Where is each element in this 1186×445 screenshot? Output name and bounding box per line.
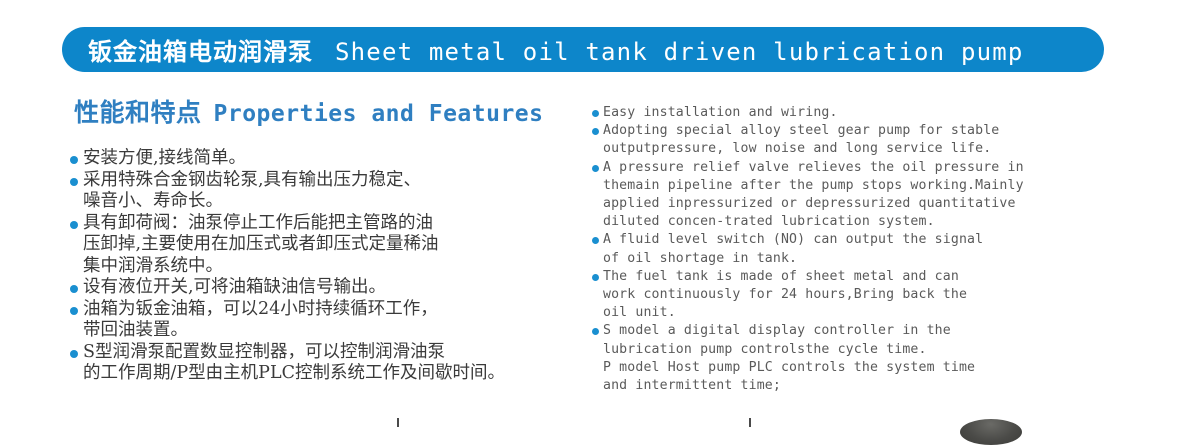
feature-cn-line: 具有卸荷阀：油泵停止工作后能把主管路的油 <box>83 213 580 235</box>
section-heading: 性能和特点 Properties and Features <box>74 93 544 129</box>
feature-en-line: outputpressure, low noise and long servi… <box>603 140 1132 158</box>
feature-en-item: A fluid level switch (NO) can output the… <box>592 231 1132 267</box>
feature-cn-item-text: S型润滑泵配置数显控制器，可以控制润滑油泵的工作周期/P型由主机PLC控制系统工… <box>83 342 580 385</box>
bullet-dot-icon <box>70 350 78 358</box>
feature-cn-item-text: 具有卸荷阀：油泵停止工作后能把主管路的油压卸掉,主要使用在加压式或者卸压式定量稀… <box>83 213 580 278</box>
feature-en-line: Easy installation and wiring. <box>603 104 1132 122</box>
feature-en-item-text: Adopting special alloy steel gear pump f… <box>603 122 1132 158</box>
feature-cn-line: 带回油装置。 <box>83 320 580 342</box>
banner-title-chinese: 钣金油箱电动润滑泵 <box>88 32 313 67</box>
feature-cn-item: 具有卸荷阀：油泵停止工作后能把主管路的油压卸掉,主要使用在加压式或者卸压式定量稀… <box>70 213 580 278</box>
feature-cn-line: 压卸掉,主要使用在加压式或者卸压式定量稀油 <box>83 234 580 256</box>
feature-en-line: of oil shortage in tank. <box>603 250 1132 268</box>
bullet-dot-icon <box>592 237 599 244</box>
feature-cn-line: 安装方便,接线简单。 <box>83 148 580 170</box>
bullet-dot-icon <box>592 128 599 135</box>
feature-cn-line: 噪音小、寿命长。 <box>83 191 580 213</box>
crop-artifact-tick-left <box>397 418 399 427</box>
section-heading-english: Properties and Features <box>214 101 544 127</box>
feature-en-line: lubrication pump controlsthe cycle time. <box>603 341 1132 359</box>
feature-en-line: A fluid level switch (NO) can output the… <box>603 231 1132 249</box>
feature-en-item: S model a digital display controller in … <box>592 322 1132 395</box>
feature-en-item: A pressure relief valve relieves the oil… <box>592 159 1132 232</box>
banner-text-group: 钣金油箱电动润滑泵 Sheet metal oil tank driven lu… <box>62 32 1024 67</box>
feature-en-item-text: A pressure relief valve relieves the oil… <box>603 159 1132 232</box>
product-title-banner: 钣金油箱电动润滑泵 Sheet metal oil tank driven lu… <box>62 27 1104 72</box>
feature-cn-item-text: 采用特殊合金钢齿轮泵,具有输出压力稳定、噪音小、寿命长。 <box>83 170 580 213</box>
feature-en-line: themain pipeline after the pump stops wo… <box>603 177 1132 195</box>
feature-cn-line: S型润滑泵配置数显控制器，可以控制润滑油泵 <box>83 342 580 364</box>
bullet-dot-icon <box>592 110 599 117</box>
feature-en-item: Easy installation and wiring. <box>592 104 1132 122</box>
bullet-dot-icon <box>592 274 599 281</box>
bullet-dot-icon <box>70 285 78 293</box>
feature-cn-line: 集中润滑系统中。 <box>83 256 580 278</box>
bullet-dot-icon <box>70 221 78 229</box>
product-photo-top-edge <box>960 419 1022 445</box>
bullet-dot-icon <box>70 178 78 186</box>
feature-en-item-text: S model a digital display controller in … <box>603 322 1132 395</box>
features-list-chinese: 安装方便,接线简单。采用特殊合金钢齿轮泵,具有输出压力稳定、噪音小、寿命长。具有… <box>70 148 580 385</box>
feature-en-line: The fuel tank is made of sheet metal and… <box>603 268 1132 286</box>
feature-cn-line: 设有液位开关,可将油箱缺油信号输出。 <box>83 277 580 299</box>
features-list-english: Easy installation and wiring.Adopting sp… <box>592 104 1132 395</box>
feature-en-line: A pressure relief valve relieves the oil… <box>603 159 1132 177</box>
feature-cn-line: 的工作周期/P型由主机PLC控制系统工作及间歇时间。 <box>83 363 580 385</box>
feature-cn-item-text: 设有液位开关,可将油箱缺油信号输出。 <box>83 277 580 299</box>
bullet-dot-icon <box>592 165 599 172</box>
feature-cn-item-text: 安装方便,接线简单。 <box>83 148 580 170</box>
feature-cn-item: 设有液位开关,可将油箱缺油信号输出。 <box>70 277 580 299</box>
feature-cn-item-text: 油箱为钣金油箱，可以24小时持续循环工作，带回油装置。 <box>83 299 580 342</box>
bullet-dot-icon <box>592 328 599 335</box>
feature-en-item: Adopting special alloy steel gear pump f… <box>592 122 1132 158</box>
crop-artifact-tick-right <box>749 418 751 427</box>
feature-cn-line: 油箱为钣金油箱，可以24小时持续循环工作， <box>83 299 580 321</box>
feature-en-line: oil unit. <box>603 304 1132 322</box>
feature-en-line: P model Host pump PLC controls the syste… <box>603 359 1132 377</box>
feature-en-line: diluted concen-trated lubrication system… <box>603 213 1132 231</box>
bullet-dot-icon <box>70 307 78 315</box>
feature-cn-item: 采用特殊合金钢齿轮泵,具有输出压力稳定、噪音小、寿命长。 <box>70 170 580 213</box>
section-heading-chinese: 性能和特点 <box>74 93 202 129</box>
feature-cn-item: 油箱为钣金油箱，可以24小时持续循环工作，带回油装置。 <box>70 299 580 342</box>
banner-title-english: Sheet metal oil tank driven lubrication … <box>335 38 1024 66</box>
feature-en-item-text: A fluid level switch (NO) can output the… <box>603 231 1132 267</box>
feature-en-line: work continuously for 24 hours,Bring bac… <box>603 286 1132 304</box>
feature-en-item-text: The fuel tank is made of sheet metal and… <box>603 268 1132 323</box>
feature-en-line: applied inpressurized or depressurized q… <box>603 195 1132 213</box>
feature-en-line: Adopting special alloy steel gear pump f… <box>603 122 1132 140</box>
bullet-dot-icon <box>70 156 78 164</box>
feature-cn-item: S型润滑泵配置数显控制器，可以控制润滑油泵的工作周期/P型由主机PLC控制系统工… <box>70 342 580 385</box>
feature-cn-line: 采用特殊合金钢齿轮泵,具有输出压力稳定、 <box>83 170 580 192</box>
feature-en-line: and intermittent time; <box>603 377 1132 395</box>
feature-cn-item: 安装方便,接线简单。 <box>70 148 580 170</box>
feature-en-item-text: Easy installation and wiring. <box>603 104 1132 122</box>
feature-en-item: The fuel tank is made of sheet metal and… <box>592 268 1132 323</box>
feature-en-line: S model a digital display controller in … <box>603 322 1132 340</box>
